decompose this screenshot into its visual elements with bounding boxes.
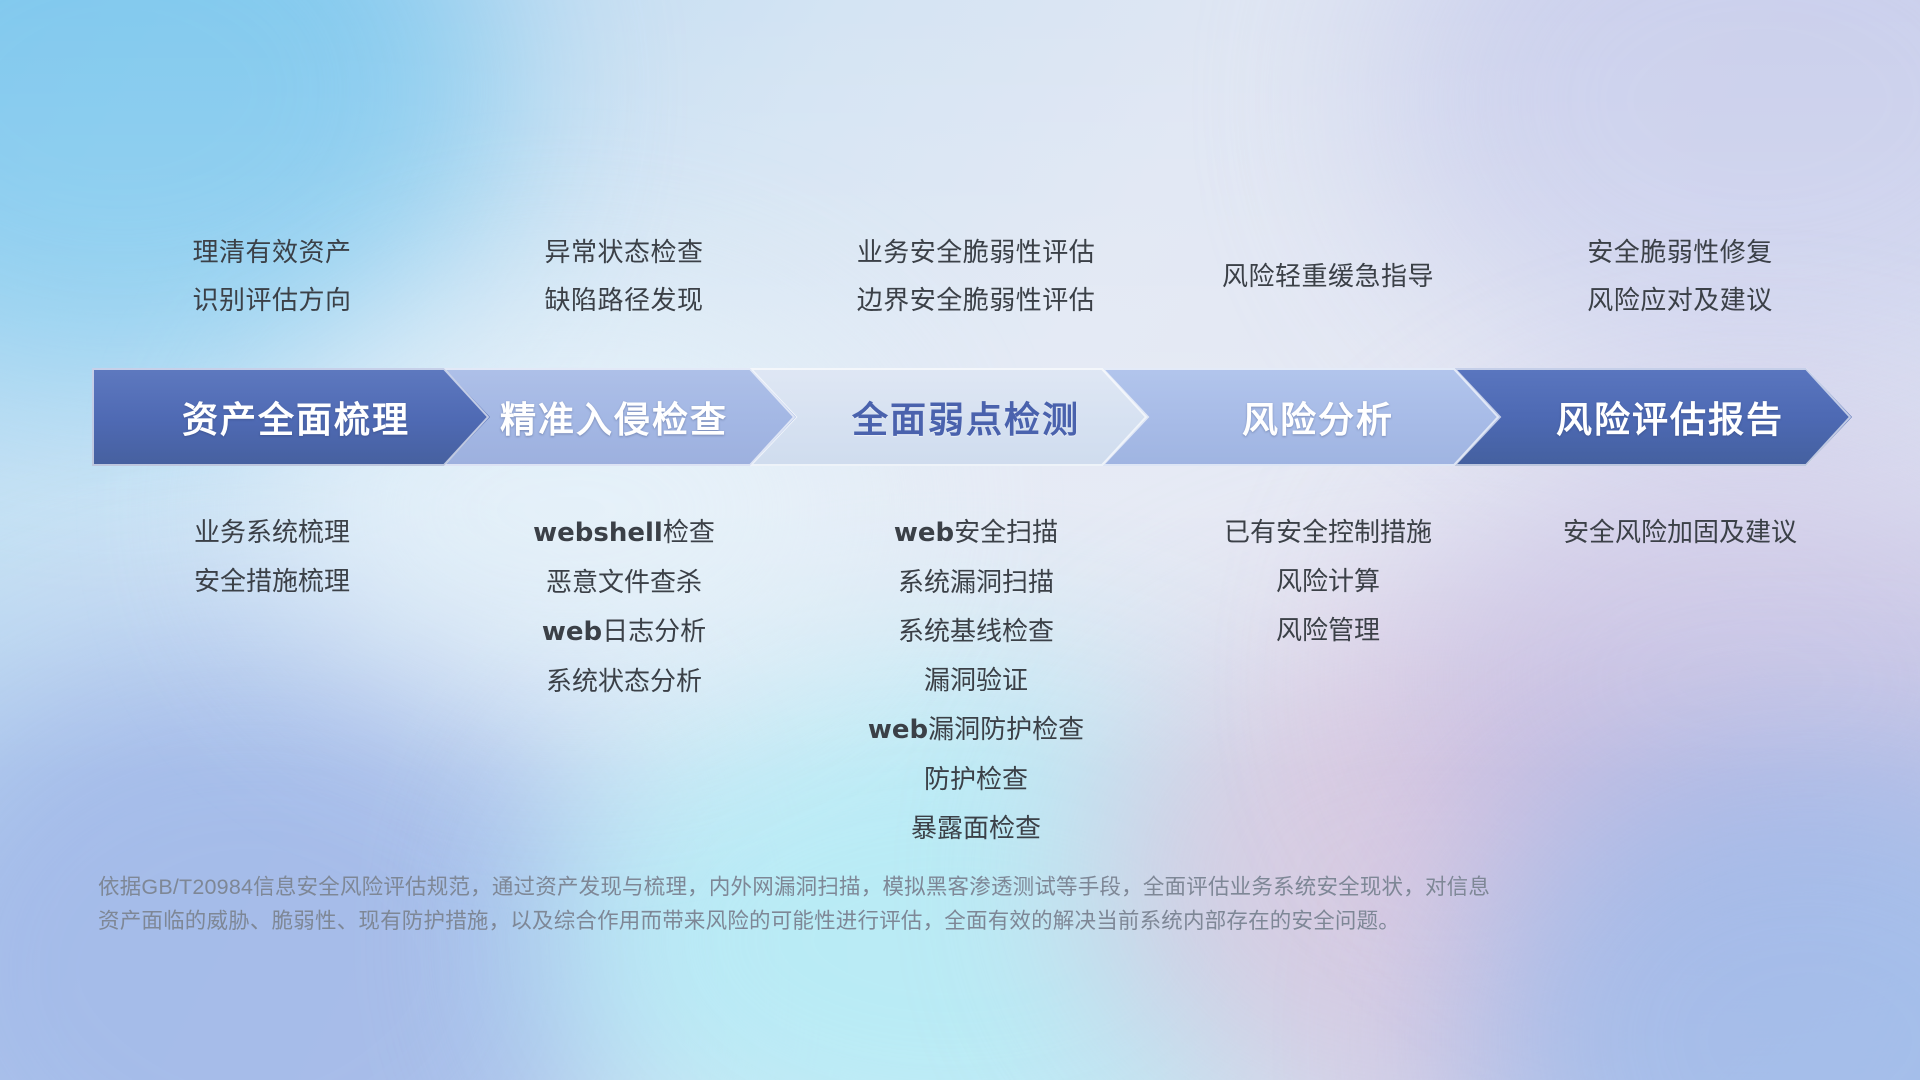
process-stage-5[interactable]: 风险评估报告 [1454, 368, 1852, 466]
lower-caption-item: 风险管理 [1152, 606, 1504, 655]
caption-cjk-token: 日志分析 [602, 616, 706, 646]
lower-caption-item: 系统状态分析 [448, 657, 800, 706]
upper-caption-item: 业务安全脆弱性评估 [800, 228, 1152, 276]
upper-caption-item: 风险轻重缓急指导 [1152, 252, 1504, 300]
stage-5-lower-captions: 安全风险加固及建议 [1504, 508, 1856, 557]
stage-label-4: 风险分析 [1102, 391, 1500, 443]
footer-description: 依据GB/T20984信息安全风险评估规范，通过资产发现与梳理，内外网漏洞扫描，… [98, 870, 1658, 938]
caption-cjk-token: 漏洞验证 [924, 665, 1028, 695]
stage-2-lower-captions: webshell检查恶意文件查杀web日志分析系统状态分析 [448, 508, 800, 706]
lower-caption-item: 暴露面检查 [800, 804, 1152, 853]
lower-caption-item: 恶意文件查杀 [448, 558, 800, 607]
lower-caption-item: 漏洞验证 [800, 656, 1152, 705]
caption-cjk-token: 已有安全控制措施 [1224, 517, 1432, 547]
upper-captions-row: 理清有效资产识别评估方向异常状态检查缺陷路径发现业务安全脆弱性评估边界安全脆弱性… [96, 228, 1856, 338]
caption-cjk-token: 漏洞防护检查 [928, 714, 1084, 744]
lower-caption-item: 业务系统梳理 [96, 508, 448, 557]
slide-canvas: 理清有效资产识别评估方向异常状态检查缺陷路径发现业务安全脆弱性评估边界安全脆弱性… [0, 0, 1920, 1080]
stage-3-lower-captions: web安全扫描系统漏洞扫描系统基线检查漏洞验证web漏洞防护检查防护检查暴露面检… [800, 508, 1152, 853]
stage-3-upper-captions: 业务安全脆弱性评估边界安全脆弱性评估 [800, 228, 1152, 324]
caption-cjk-token: 防护检查 [924, 764, 1028, 794]
lower-caption-item: 已有安全控制措施 [1152, 508, 1504, 557]
caption-latin-token: web [542, 617, 602, 647]
stage-1-upper-captions: 理清有效资产识别评估方向 [96, 228, 448, 324]
process-chevron-band: 资产全面梳理精准入侵检查全面弱点检测风险分析风险评估报告 [92, 368, 1852, 466]
footer-line-1: 依据GB/T20984信息安全风险评估规范，通过资产发现与梳理，内外网漏洞扫描，… [98, 870, 1658, 904]
lower-caption-item: 风险计算 [1152, 557, 1504, 606]
stage-label-5: 风险评估报告 [1454, 391, 1852, 443]
process-stage-1[interactable]: 资产全面梳理 [92, 368, 490, 466]
upper-caption-item: 风险应对及建议 [1504, 276, 1856, 324]
upper-caption-item: 边界安全脆弱性评估 [800, 276, 1152, 324]
upper-caption-item: 缺陷路径发现 [448, 276, 800, 324]
caption-cjk-token: 安全风险加固及建议 [1563, 517, 1797, 547]
process-stage-4[interactable]: 风险分析 [1102, 368, 1500, 466]
caption-cjk-token: 系统基线检查 [898, 616, 1054, 646]
caption-cjk-token: 暴露面检查 [911, 813, 1041, 843]
lower-caption-item: 系统基线检查 [800, 607, 1152, 656]
stage-2-upper-captions: 异常状态检查缺陷路径发现 [448, 228, 800, 324]
caption-cjk-token: 恶意文件查杀 [546, 567, 702, 597]
lower-caption-item: 安全风险加固及建议 [1504, 508, 1856, 557]
caption-latin-token: web [894, 518, 954, 548]
stage-label-3: 全面弱点检测 [750, 391, 1148, 443]
caption-cjk-token: 系统状态分析 [546, 666, 702, 696]
lower-caption-item: 安全措施梳理 [96, 557, 448, 606]
lower-caption-item: web安全扫描 [800, 508, 1152, 558]
caption-cjk-token: 安全措施梳理 [194, 566, 350, 596]
lower-caption-item: 系统漏洞扫描 [800, 558, 1152, 607]
stage-4-upper-captions: 风险轻重缓急指导 [1152, 252, 1504, 300]
stage-4-lower-captions: 已有安全控制措施风险计算风险管理 [1152, 508, 1504, 655]
upper-caption-item: 识别评估方向 [96, 276, 448, 324]
caption-latin-token: web [868, 715, 928, 745]
stage-1-lower-captions: 业务系统梳理安全措施梳理 [96, 508, 448, 606]
process-stage-3[interactable]: 全面弱点检测 [750, 368, 1148, 466]
lower-caption-item: 防护检查 [800, 755, 1152, 804]
lower-caption-item: web漏洞防护检查 [800, 705, 1152, 755]
caption-cjk-token: 安全扫描 [954, 517, 1058, 547]
footer-line-2: 资产面临的威胁、脆弱性、现有防护措施，以及综合作用而带来风险的可能性进行评估，全… [98, 904, 1658, 938]
stage-5-upper-captions: 安全脆弱性修复风险应对及建议 [1504, 228, 1856, 324]
lower-caption-item: webshell检查 [448, 508, 800, 558]
caption-latin-token: webshell [533, 518, 663, 548]
caption-cjk-token: 系统漏洞扫描 [898, 567, 1054, 597]
stage-label-1: 资产全面梳理 [92, 391, 490, 443]
caption-cjk-token: 风险计算 [1276, 566, 1380, 596]
caption-cjk-token: 业务系统梳理 [194, 517, 350, 547]
lower-captions-row: 业务系统梳理安全措施梳理webshell检查恶意文件查杀web日志分析系统状态分… [96, 508, 1856, 838]
lower-caption-item: web日志分析 [448, 607, 800, 657]
upper-caption-item: 理清有效资产 [96, 228, 448, 276]
caption-cjk-token: 检查 [663, 517, 715, 547]
upper-caption-item: 异常状态检查 [448, 228, 800, 276]
upper-caption-item: 安全脆弱性修复 [1504, 228, 1856, 276]
caption-cjk-token: 风险管理 [1276, 615, 1380, 645]
